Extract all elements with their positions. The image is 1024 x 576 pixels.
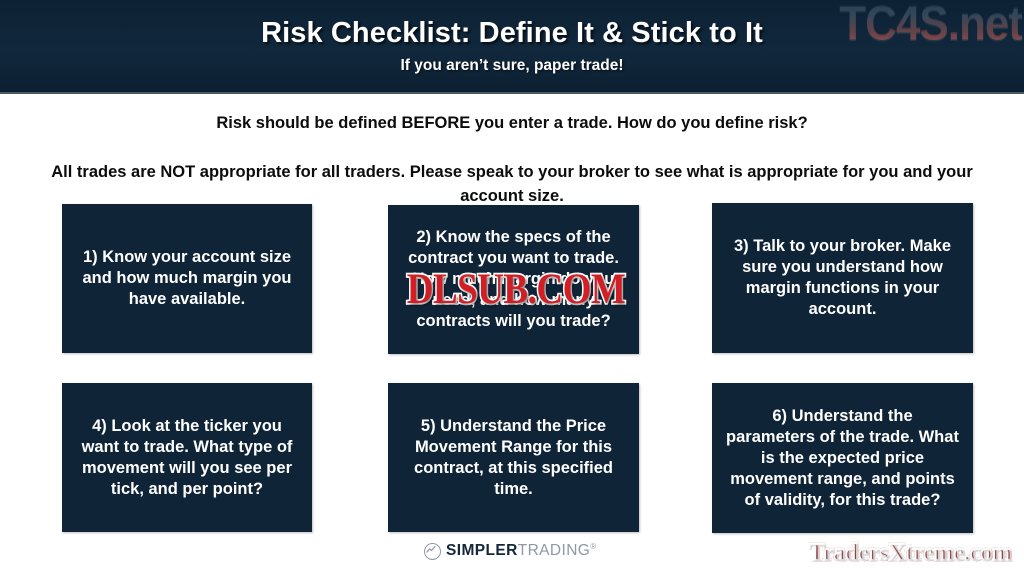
checklist-card-2: 2) Know the specs of the contract you wa… bbox=[388, 205, 639, 354]
checklist-card-1: 1) Know your account size and how much m… bbox=[62, 204, 312, 353]
checklist-card-text: 1) Know your account size and how much m… bbox=[76, 247, 298, 310]
tradersxtreme-logo-text: TradersXtreme.com bbox=[809, 540, 1012, 566]
checklist-card-5: 5) Understand the Price Movement Range f… bbox=[388, 383, 639, 532]
slide-canvas: Risk Checklist: Define It & Stick to It … bbox=[0, 0, 1024, 576]
checklist-card-6: 6) Understand the parameters of the trad… bbox=[712, 383, 973, 533]
simpler-trading-logo: SIMPLERTRADING® bbox=[424, 542, 597, 560]
header-band: Risk Checklist: Define It & Stick to It … bbox=[0, 0, 1024, 94]
checklist-card-text: 2) Know the specs of the contract you wa… bbox=[402, 227, 625, 332]
checklist-card-4: 4) Look at the ticker you want to trade.… bbox=[62, 383, 312, 532]
checklist-card-text: 5) Understand the Price Movement Range f… bbox=[402, 416, 625, 500]
simpler-logo-bold: SIMPLER bbox=[446, 542, 518, 559]
checklist-card-text: 6) Understand the parameters of the trad… bbox=[726, 406, 959, 511]
checklist-card-3: 3) Talk to your broker. Make sure you un… bbox=[712, 203, 973, 353]
checklist-card-text: 4) Look at the ticker you want to trade.… bbox=[76, 416, 298, 500]
simpler-trading-logo-text: SIMPLERTRADING® bbox=[446, 542, 597, 560]
intro-question: Risk should be defined BEFORE you enter … bbox=[0, 114, 1024, 133]
chart-circle-icon bbox=[424, 543, 441, 560]
page-subtitle: If you aren’t sure, paper trade! bbox=[0, 57, 1024, 75]
page-title: Risk Checklist: Define It & Stick to It bbox=[0, 17, 1024, 50]
tradersxtreme-logo: TradersXtreme.com bbox=[809, 540, 1012, 567]
simpler-logo-light: TRADING bbox=[518, 542, 591, 559]
registered-trademark-icon: ® bbox=[590, 542, 596, 551]
intro-disclaimer: All trades are NOT appropriate for all t… bbox=[30, 160, 994, 208]
checklist-card-text: 3) Talk to your broker. Make sure you un… bbox=[726, 236, 959, 320]
